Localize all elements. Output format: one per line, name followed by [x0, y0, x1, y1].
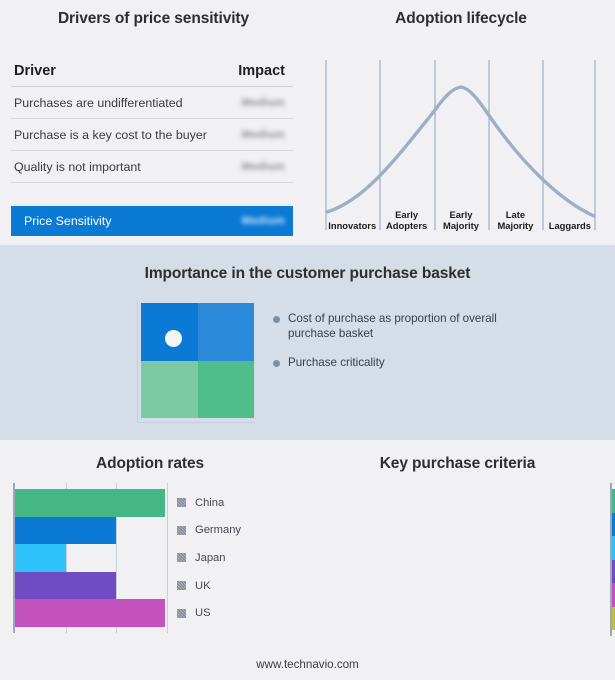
- legend-label: Japan: [195, 552, 225, 564]
- plot-area: [13, 483, 165, 633]
- column-header-driver: Driver: [14, 63, 56, 79]
- adoption-lifecycle-panel: Adoption lifecycle Innovators: [307, 0, 615, 245]
- stage-line-2: Adopters: [379, 220, 433, 231]
- purchase-basket-legend: Cost of purchase as proportion of overal…: [273, 311, 593, 384]
- bar-row: [15, 489, 165, 517]
- drivers-table: Driver Impact Purchases are undifferenti…: [11, 63, 293, 183]
- quadrant-grid: [141, 303, 254, 418]
- hatched-square-icon: [177, 609, 186, 618]
- stage-line-2: Innovators: [325, 220, 379, 231]
- table-row[interactable]: Purchase is a key cost to the buyer Medi…: [11, 119, 293, 151]
- bullet-icon: [273, 360, 280, 367]
- legend-item[interactable]: US: [177, 599, 241, 627]
- adoption-lifecycle-axis-labels: Innovators Early Adopters Early Majority…: [325, 200, 597, 232]
- bar-row: [15, 517, 165, 545]
- stage-label-late-majority: Late Majority: [488, 200, 542, 232]
- bottom-section: Adoption rates ChinaGermanyJapanUKUS Key…: [0, 440, 615, 680]
- bar-china[interactable]: [15, 489, 165, 517]
- bar-row: [15, 572, 165, 600]
- drivers-panel: Drivers of price sensitivity Driver Impa…: [0, 0, 307, 245]
- plot-area: [610, 483, 615, 636]
- stage-line-2: Majority: [434, 220, 488, 231]
- driver-label: Quality is not important: [14, 160, 141, 174]
- stage-label-early-adopters: Early Adopters: [379, 200, 433, 232]
- adoption-lifecycle-title: Adoption lifecycle: [307, 10, 615, 28]
- drivers-table-header: Driver Impact: [11, 63, 293, 87]
- legend-label: UK: [195, 580, 211, 592]
- legend-label: US: [195, 607, 211, 619]
- key-purchase-criteria-chart: InnovationPriceQualityRelatabilityRegula…: [610, 483, 615, 636]
- bar-japan[interactable]: [15, 544, 66, 572]
- legend-label: China: [195, 497, 224, 509]
- hatched-square-icon: [177, 553, 186, 562]
- impact-value: Medium: [242, 129, 285, 141]
- impact-value: Medium: [242, 97, 285, 109]
- list-item: Purchase criticality: [273, 355, 593, 370]
- legend-item[interactable]: China: [177, 489, 241, 517]
- legend-item[interactable]: Japan: [177, 544, 241, 572]
- stage-line-2: Laggards: [543, 220, 597, 231]
- bar-germany[interactable]: [15, 517, 116, 545]
- bullet-icon: [273, 316, 280, 323]
- legend-label: Purchase criticality: [288, 355, 385, 370]
- column-header-impact: Impact: [238, 63, 285, 79]
- bar-group: [15, 489, 165, 627]
- stage-line-2: Majority: [488, 220, 542, 231]
- infographic-root: Drivers of price sensitivity Driver Impa…: [0, 0, 615, 680]
- stage-line-1: Early: [379, 209, 433, 220]
- key-purchase-criteria-title: Key purchase criteria: [300, 455, 615, 473]
- table-row[interactable]: Purchases are undifferentiated Medium: [11, 87, 293, 119]
- bar-uk[interactable]: [15, 572, 116, 600]
- quadrant-chart: [137, 301, 255, 423]
- impact-value: Medium: [242, 161, 285, 173]
- hatched-square-icon: [177, 498, 186, 507]
- quadrant-cell-bottom-left: [141, 361, 198, 419]
- list-item: Cost of purchase as proportion of overal…: [273, 311, 593, 341]
- quadrant-cell-bottom-right: [198, 361, 255, 419]
- hatched-square-icon: [177, 526, 186, 535]
- stage-label-innovators: Innovators: [325, 200, 379, 232]
- driver-label: Purchases are undifferentiated: [14, 96, 183, 110]
- stage-line-1: Late: [488, 209, 542, 220]
- quadrant-cell-top-right: [198, 303, 255, 361]
- stage-label-laggards: Laggards: [543, 200, 597, 232]
- legend-item[interactable]: UK: [177, 572, 241, 600]
- bar-row: [15, 544, 165, 572]
- legend-item[interactable]: Germany: [177, 517, 241, 545]
- table-row[interactable]: Quality is not important Medium: [11, 151, 293, 183]
- purchase-basket-title: Importance in the customer purchase bask…: [0, 265, 615, 283]
- purchase-basket-section: Importance in the customer purchase bask…: [0, 245, 615, 440]
- stage-line-1: Early: [434, 209, 488, 220]
- stage-label-early-majority: Early Majority: [434, 200, 488, 232]
- legend-label: Cost of purchase as proportion of overal…: [288, 311, 518, 341]
- adoption-rates-chart: ChinaGermanyJapanUKUS: [13, 483, 241, 633]
- table-row-highlighted[interactable]: Price Sensitivity Medium: [11, 206, 293, 236]
- adoption-rates-panel: Adoption rates ChinaGermanyJapanUKUS: [0, 440, 300, 655]
- adoption-rates-title: Adoption rates: [0, 455, 300, 473]
- driver-label: Purchase is a key cost to the buyer: [14, 128, 207, 142]
- impact-value: Medium: [242, 215, 285, 227]
- quadrant-position-marker: [165, 330, 182, 347]
- bar-us[interactable]: [15, 599, 165, 627]
- bar-row: [15, 599, 165, 627]
- key-purchase-criteria-panel: Key purchase criteria InnovationPriceQua…: [300, 440, 615, 655]
- driver-label: Price Sensitivity: [24, 214, 111, 228]
- top-section: Drivers of price sensitivity Driver Impa…: [0, 0, 615, 245]
- legend-label: Germany: [195, 524, 241, 536]
- chart-legend: ChinaGermanyJapanUKUS: [165, 483, 241, 633]
- hatched-square-icon: [177, 581, 186, 590]
- watermark: www.technavio.com: [0, 658, 615, 671]
- drivers-title: Drivers of price sensitivity: [0, 10, 307, 28]
